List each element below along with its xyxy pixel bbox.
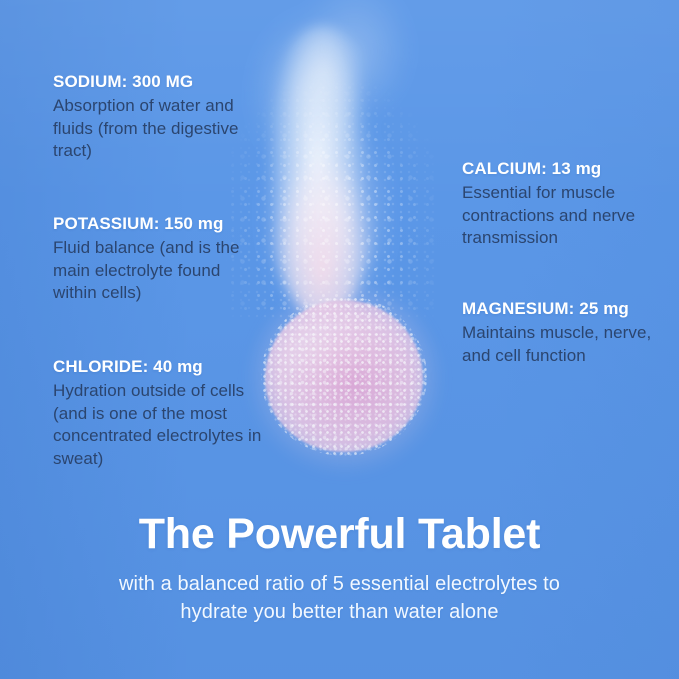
fact-chloride: CHLORIDE: 40 mg Hydration outside of cel… <box>53 357 275 470</box>
fact-magnesium-title: MAGNESIUM: 25 mg <box>462 299 677 319</box>
product-infographic: SODIUM: 300 MG Absorption of water and f… <box>0 0 679 679</box>
tablet-bubbles <box>261 296 427 456</box>
subline-1: with a balanced ratio of 5 essential ele… <box>0 570 679 598</box>
fact-calcium: CALCIUM: 13 mg Essential for muscle cont… <box>462 159 677 250</box>
effervescent-tablet <box>265 300 423 452</box>
tablet-image <box>265 300 425 460</box>
footer-headline-block: The Powerful Tablet with a balanced rati… <box>0 513 679 627</box>
headline: The Powerful Tablet <box>0 513 679 556</box>
fact-sodium: SODIUM: 300 MG Absorption of water and f… <box>53 72 268 163</box>
fact-calcium-body: Essential for muscle contractions and ne… <box>462 182 677 250</box>
fact-sodium-body: Absorption of water and fluids (from the… <box>53 95 268 163</box>
subline-2: hydrate you better than water alone <box>0 598 679 626</box>
fact-magnesium: MAGNESIUM: 25 mg Maintains muscle, nerve… <box>462 299 677 367</box>
fact-potassium-title: POTASSIUM: 150 mg <box>53 214 268 234</box>
fact-potassium: POTASSIUM: 150 mg Fluid balance (and is … <box>53 214 268 305</box>
fact-chloride-body: Hydration outside of cells (and is one o… <box>53 380 275 470</box>
fact-calcium-title: CALCIUM: 13 mg <box>462 159 677 179</box>
tablet-glow <box>249 284 441 476</box>
fact-magnesium-body: Maintains muscle, nerve, and cell functi… <box>462 322 677 367</box>
plume-core <box>262 26 382 316</box>
fact-chloride-title: CHLORIDE: 40 mg <box>53 357 275 377</box>
fact-potassium-body: Fluid balance (and is the main electroly… <box>53 237 268 305</box>
fact-sodium-title: SODIUM: 300 MG <box>53 72 268 92</box>
